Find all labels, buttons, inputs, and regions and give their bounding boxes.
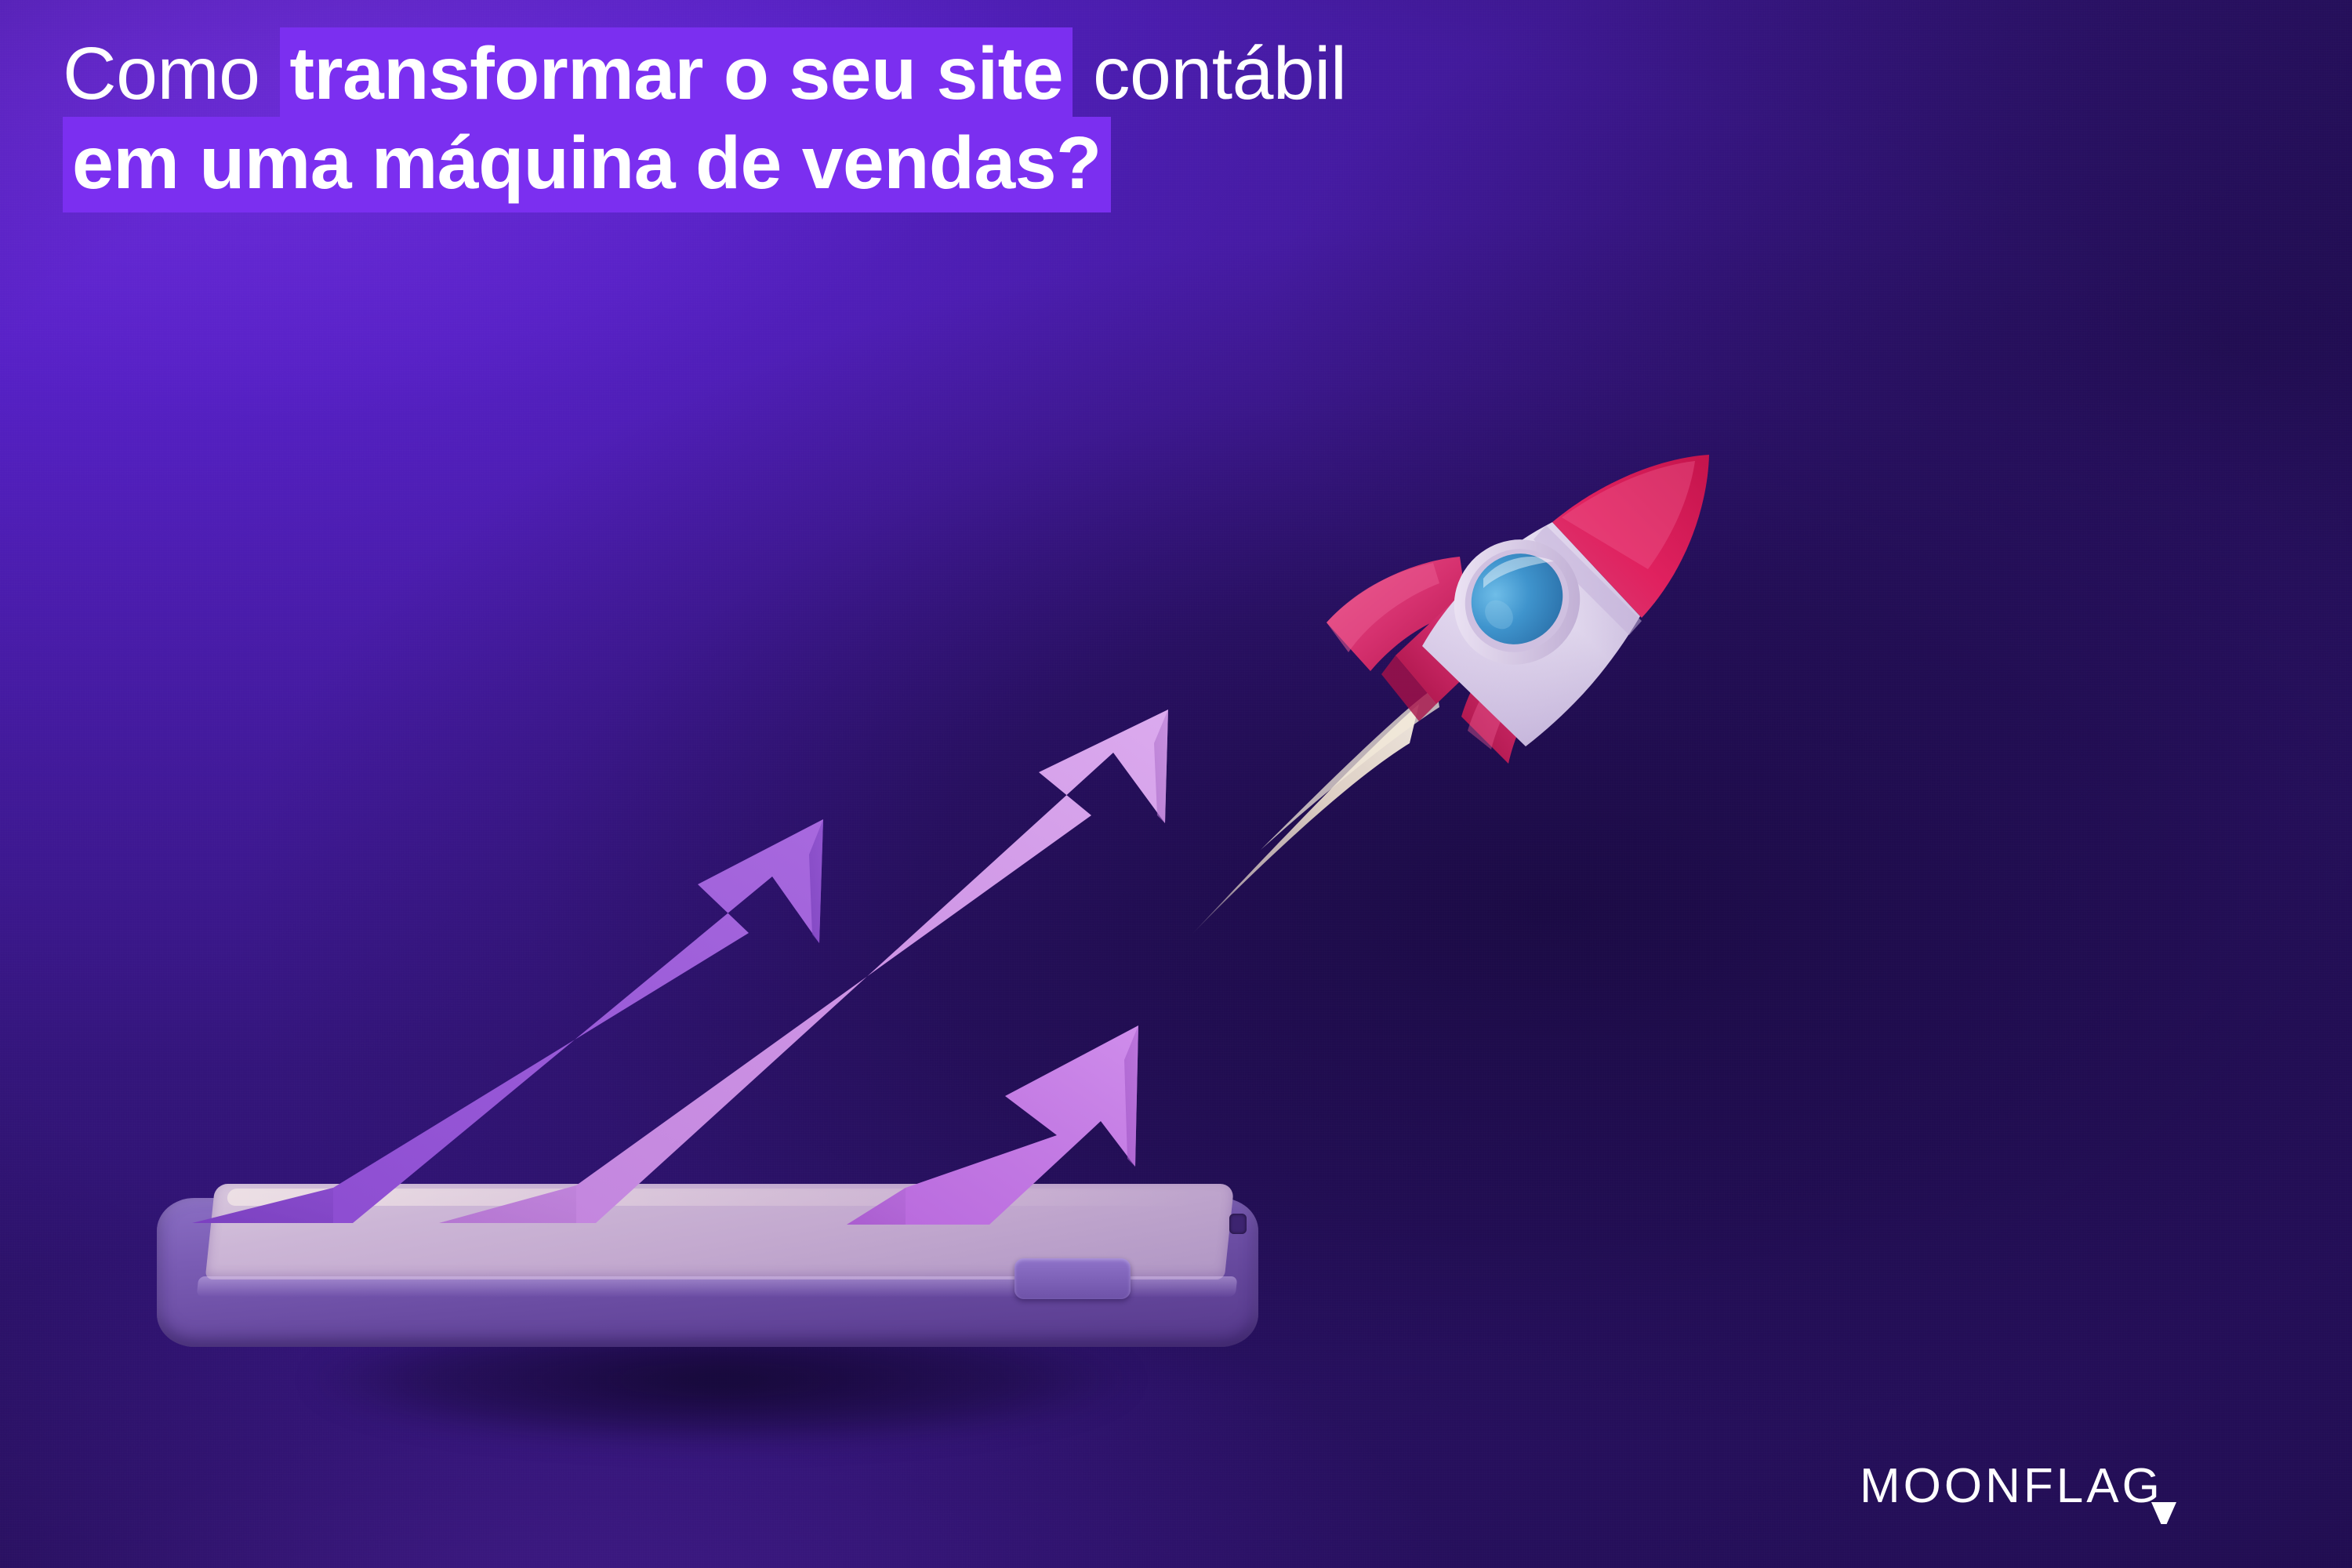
moonflag-logo-svg: MOONFLAG (1860, 1446, 2267, 1524)
headline-prefix: Como (63, 32, 280, 115)
headline-line-1: Como transformar o seu site contábil (63, 31, 1944, 116)
poster-canvas: Como transformar o seu site contábil em … (0, 0, 2352, 1568)
smartphone (157, 1176, 1270, 1380)
downward-pin-triangle-icon (2151, 1502, 2176, 1524)
rocket (1160, 455, 1756, 1004)
headline-highlight-2: em uma máquina de vendas? (63, 117, 1111, 212)
smartphone-side-button (1014, 1258, 1131, 1299)
moonflag-wordmark: MOONFLAG (1860, 1459, 2163, 1513)
brand-logo: MOONFLAG (1860, 1446, 2267, 1524)
headline-line-2: em uma máquina de vendas? (63, 121, 1944, 205)
headline: Como transformar o seu site contábil em … (63, 31, 1944, 211)
headline-highlight-1: transformar o seu site (280, 27, 1073, 123)
smartphone-screen-glare (227, 1189, 1200, 1206)
headline-suffix: contábil (1073, 32, 1346, 115)
smartphone-camera (1229, 1214, 1247, 1234)
